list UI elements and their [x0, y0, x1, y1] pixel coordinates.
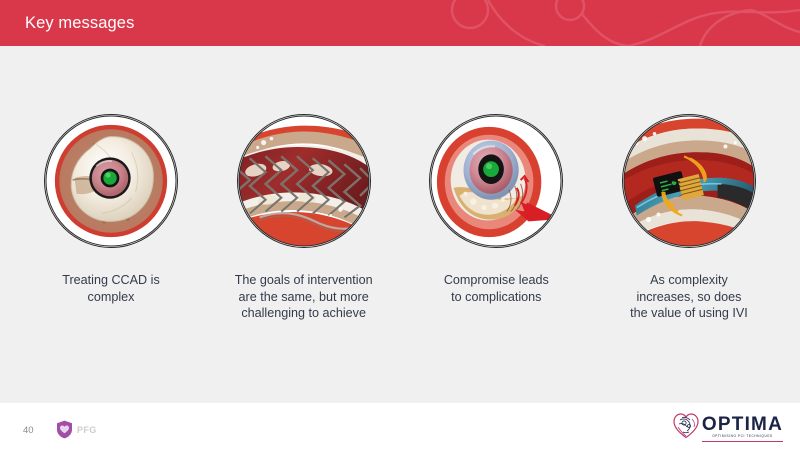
key-message-caption-4: As complexity increases, so does the val… [630, 272, 748, 322]
intravascular-imaging-catheter-image [622, 114, 756, 248]
slide-header: Key messages [0, 0, 800, 46]
footer-left-logo-text: PFG [77, 425, 97, 435]
key-message-column-1: Treating CCAD is complex [18, 114, 204, 305]
optima-rule [702, 441, 783, 442]
key-message-caption-3: Compromise leads to complications [444, 272, 549, 305]
optima-word: OPTIMA [702, 415, 783, 434]
key-message-caption-1: Treating CCAD is complex [62, 272, 160, 305]
purple-shield-heart-icon [56, 420, 73, 439]
slide-content: Treating CCAD is complex [0, 46, 800, 403]
page-title: Key messages [25, 0, 134, 46]
footer-right-logo: OPTIMA OPTIMISING PCI TECHNIQUES [673, 412, 783, 442]
stent-in-artery-longitudinal-image [237, 114, 371, 248]
footer-left-logo: PFG [56, 420, 97, 439]
optima-heart-icon [673, 412, 699, 439]
key-message-columns: Treating CCAD is complex [18, 114, 782, 322]
page-number: 40 [23, 425, 34, 436]
optima-subtitle: OPTIMISING PCI TECHNIQUES [702, 434, 783, 439]
artery-dissection-complication-image [429, 114, 563, 248]
slide: Key messages [0, 0, 800, 450]
key-message-column-2: The goals of intervention are the same, … [211, 114, 397, 322]
calcified-artery-cross-section-image [44, 114, 178, 248]
optima-wordmark: OPTIMA OPTIMISING PCI TECHNIQUES [702, 412, 783, 442]
key-message-caption-2: The goals of intervention are the same, … [235, 272, 373, 322]
slide-footer: 40 PFG [0, 403, 800, 450]
key-message-column-4: As complexity increases, so does the val… [596, 114, 782, 322]
key-message-column-3: Compromise leads to complications [403, 114, 589, 305]
